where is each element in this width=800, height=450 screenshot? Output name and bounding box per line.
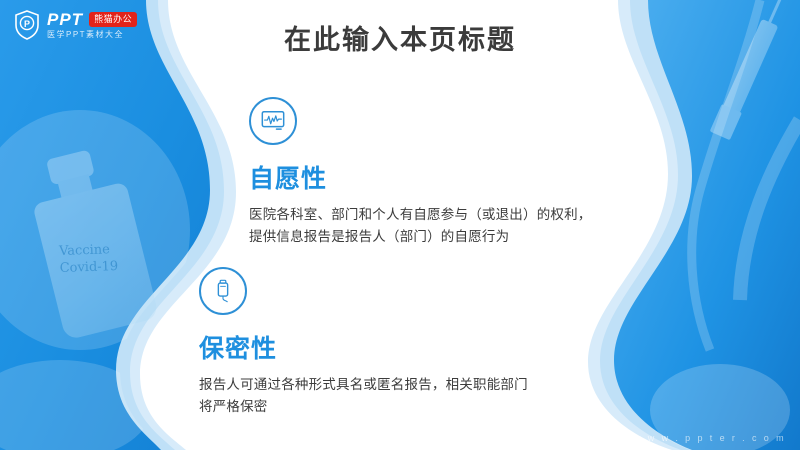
section-heading: 自愿性 — [249, 159, 669, 195]
slide-canvas: Vaccine Covid-19 P PPT 熊猫办公 医学PPT素材大全 在此… — [0, 0, 800, 450]
section-body: 报告人可通过各种形式具名或匿名报告，相关职能部门 将严格保密 — [199, 374, 629, 418]
section-body-line-1: 报告人可通过各种形式具名或匿名报告，相关职能部门 — [199, 374, 629, 396]
content-block-voluntary: 自愿性 医院各科室、部门和个人有自愿参与（或退出）的权利， 提供信息报告是报告人… — [249, 97, 669, 248]
section-body-line-2: 提供信息报告是报告人（部门）的自愿行为 — [249, 226, 669, 248]
iv-drip-icon — [199, 267, 247, 315]
section-body-line-2: 将严格保密 — [199, 396, 629, 418]
content-block-confidentiality: 保密性 报告人可通过各种形式具名或匿名报告，相关职能部门 将严格保密 — [199, 267, 629, 418]
section-heading: 保密性 — [199, 329, 629, 365]
page-title: 在此输入本页标题 — [0, 18, 800, 57]
section-body: 医院各科室、部门和个人有自愿参与（或退出）的权利， 提供信息报告是报告人（部门）… — [249, 204, 669, 248]
vial-label: Vaccine Covid-19 — [59, 240, 144, 277]
ecg-monitor-icon — [249, 97, 297, 145]
section-body-line-1: 医院各科室、部门和个人有自愿参与（或退出）的权利， — [249, 204, 669, 226]
vial-label-line-2: Covid-19 — [59, 257, 144, 277]
site-watermark: w w w . p p t e r . c o m — [634, 433, 786, 443]
